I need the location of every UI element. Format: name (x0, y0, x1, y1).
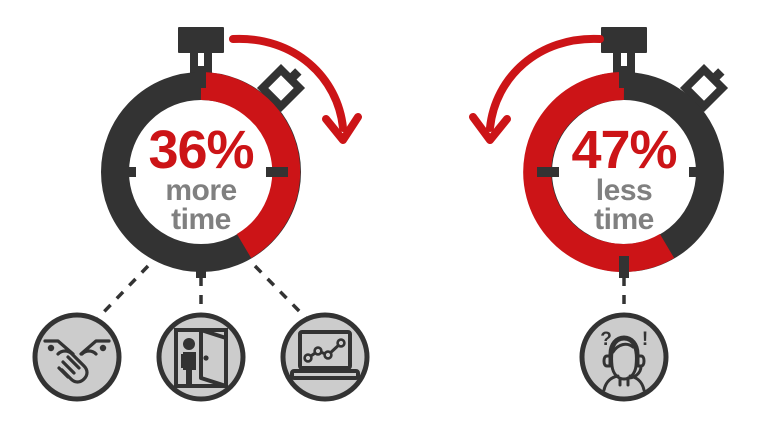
infographic-canvas: 36% more time (0, 0, 768, 432)
right-stopwatch: 47% less time (473, 27, 730, 278)
left-sub-line2: time (171, 203, 231, 236)
connector-to-laptop (255, 266, 306, 318)
connector-to-handshake (98, 266, 148, 318)
handshake-icon[interactable] (35, 315, 119, 399)
left-stopwatch-top-button (178, 27, 224, 53)
left-percent-value: 36% (148, 120, 253, 180)
right-percent-value: 47% (571, 120, 676, 180)
right-sub-line2: time (594, 203, 654, 236)
support-headset-icon[interactable]: ? ! (582, 315, 666, 399)
laptop-chart-icon[interactable] (283, 315, 367, 399)
left-stopwatch: 36% more time (114, 27, 358, 278)
person-door-icon[interactable] (159, 315, 243, 399)
svg-text:!: ! (642, 329, 648, 350)
right-stopwatch-top-button (601, 27, 647, 53)
